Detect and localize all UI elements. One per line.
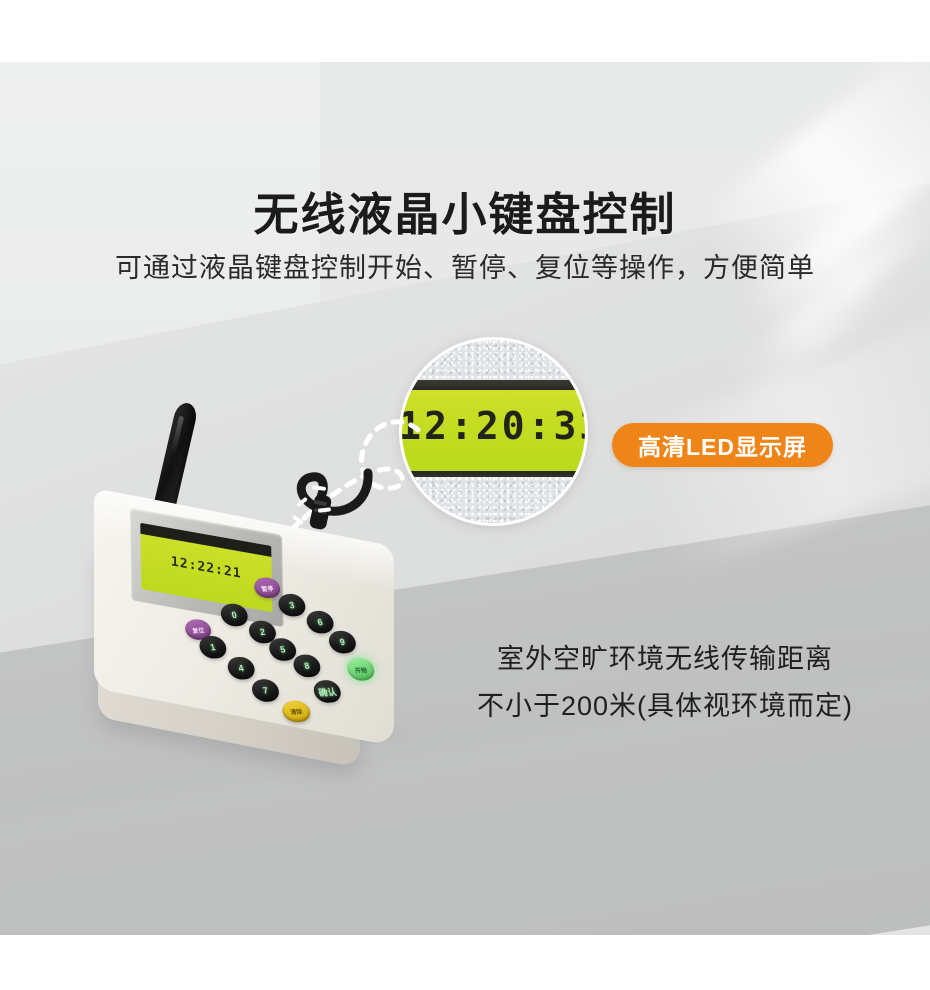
key-start[interactable]: 开始	[345, 657, 377, 681]
status-badge: 高清LED显示屏	[612, 423, 833, 467]
zoom-texture-top	[402, 340, 585, 384]
badge-label: 高清LED显示屏	[638, 428, 807, 462]
key-9[interactable]: 9	[327, 630, 359, 654]
key-0[interactable]: 0	[218, 603, 250, 627]
key-5[interactable]: 5	[267, 638, 299, 662]
product-feature-page: 无线液晶小键盘控制 可通过液晶键盘控制开始、暂停、复位等操作，方便简单 12:2…	[0, 0, 930, 990]
key-6[interactable]: 6	[304, 610, 336, 634]
page-subtitle: 可通过液晶键盘控制开始、暂停、复位等操作，方便简单	[0, 246, 930, 285]
range-line-2: 不小于200米(具体视环境而定)	[440, 683, 890, 730]
range-description: 室外空旷环境无线传输距离 不小于200米(具体视环境而定)	[440, 636, 890, 731]
key-enter[interactable]: 确认	[312, 680, 344, 704]
range-line-1: 室外空旷环境无线传输距离	[440, 636, 890, 683]
key-clear[interactable]: 清除	[280, 700, 312, 723]
key-3[interactable]: 3	[276, 593, 308, 617]
key-pause[interactable]: 暂停	[252, 577, 282, 599]
page-title: 无线液晶小键盘控制	[0, 178, 930, 243]
wireless-lcd-keypad[interactable]: 12:22:21 复位 0 3 暂停 2 6 1 5 9 4 8 开始 7 确认…	[60, 390, 450, 790]
key-4[interactable]: 4	[225, 656, 257, 680]
key-8[interactable]: 8	[291, 654, 323, 678]
key-1[interactable]: 1	[197, 635, 229, 659]
key-7[interactable]: 7	[250, 679, 282, 703]
